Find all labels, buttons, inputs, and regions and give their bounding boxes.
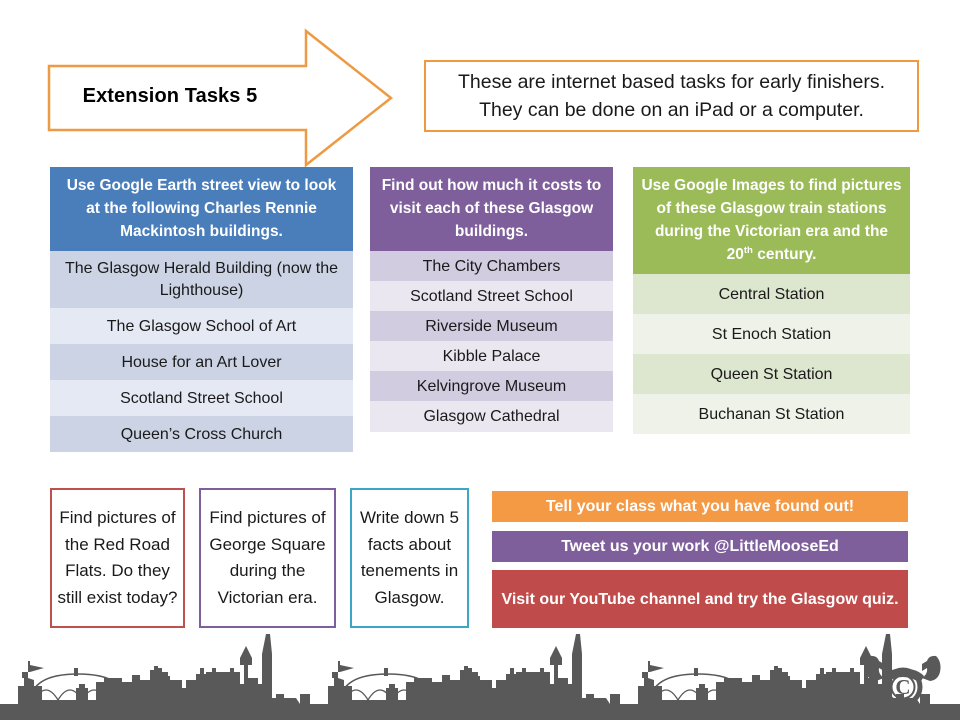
cta-tweet-us[interactable]: Tweet us your work @LittleMooseEd <box>492 531 908 562</box>
task-table-header: Use Google Earth street view to look at … <box>50 167 353 251</box>
task-box-george-square[interactable]: Find pictures of George Square during th… <box>199 488 336 628</box>
task-row[interactable]: Central Station <box>633 274 910 314</box>
task-row[interactable]: Buchanan St Station <box>633 394 910 434</box>
glasgow-skyline-silhouette <box>0 628 960 720</box>
task-row[interactable]: The City Chambers <box>370 251 613 281</box>
task-table-costs: Find out how much it costs to visit each… <box>370 167 613 432</box>
task-row[interactable]: Glasgow Cathedral <box>370 401 613 432</box>
ordinal-suffix: th <box>744 245 753 256</box>
task-row[interactable]: Scotland Street School <box>50 380 353 416</box>
task-table-header-text-end: century. <box>753 246 816 263</box>
skyline-svg <box>0 628 960 720</box>
task-row[interactable]: The Glasgow Herald Building (now the Lig… <box>50 251 353 308</box>
task-table-header: Find out how much it costs to visit each… <box>370 167 613 251</box>
task-row[interactable]: Scotland Street School <box>370 281 613 311</box>
moose-logo-svg: C <box>860 646 946 708</box>
littlemoose-logo: C <box>860 646 946 708</box>
task-box-tenements[interactable]: Write down 5 facts about tenements in Gl… <box>350 488 469 628</box>
task-row[interactable]: Queen St Station <box>633 354 910 394</box>
task-row[interactable]: Queen’s Cross Church <box>50 416 353 452</box>
logo-letter: C <box>895 675 910 699</box>
task-row[interactable]: The Glasgow School of Art <box>50 308 353 344</box>
task-table-google-images: Use Google Images to find pictures of th… <box>633 167 910 434</box>
task-box-red-road-flats[interactable]: Find pictures of the Red Road Flats. Do … <box>50 488 185 628</box>
intro-line-2: They can be done on an iPad or a compute… <box>458 96 885 124</box>
task-row[interactable]: Kelvingrove Museum <box>370 371 613 401</box>
cta-youtube-channel[interactable]: Visit our YouTube channel and try the Gl… <box>492 570 908 628</box>
task-row[interactable]: Riverside Museum <box>370 311 613 341</box>
page-title: Extension Tasks 5 <box>50 66 290 126</box>
task-row[interactable]: St Enoch Station <box>633 314 910 354</box>
task-row[interactable]: House for an Art Lover <box>50 344 353 380</box>
intro-line-1: These are internet based tasks for early… <box>458 68 885 96</box>
task-table-google-earth: Use Google Earth street view to look at … <box>50 167 353 452</box>
intro-text-box: These are internet based tasks for early… <box>424 60 919 132</box>
task-row[interactable]: Kibble Palace <box>370 341 613 371</box>
task-table-header: Use Google Images to find pictures of th… <box>633 167 910 274</box>
cta-tell-class[interactable]: Tell your class what you have found out! <box>492 491 908 522</box>
